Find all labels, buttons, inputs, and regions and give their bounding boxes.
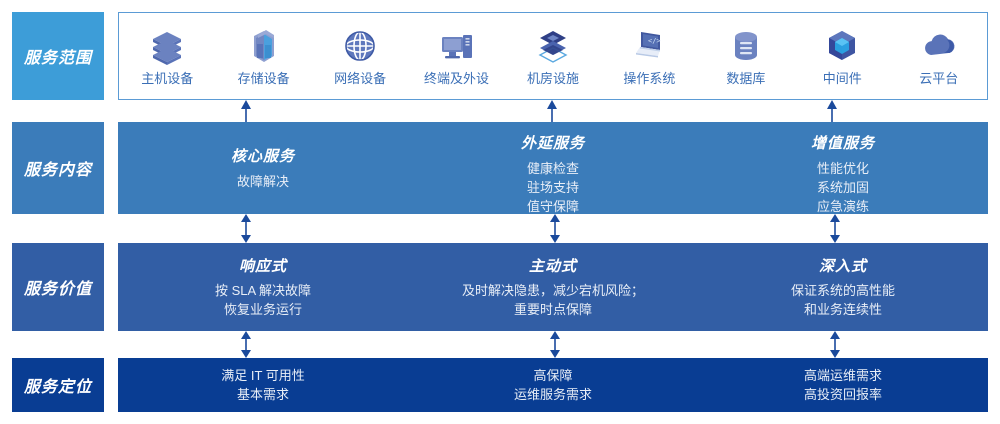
- desktop-terminal-icon: [437, 26, 477, 66]
- scope-item-database[interactable]: 数据库: [698, 26, 794, 87]
- content-column-line: 故障解决: [237, 172, 289, 191]
- server-stack-icon: [147, 26, 187, 66]
- connector-arrow-up-2: [545, 100, 559, 122]
- position-column-premium: 高端运维需求 高投资回报率: [698, 358, 988, 412]
- position-panel: 满足 IT 可用性 基本需求 高保障 运维服务需求 高端运维需求 高投资回报率: [118, 358, 988, 412]
- content-column-line: 健康检查: [527, 159, 579, 178]
- value-column-indepth: 深入式 保证系统的高性能 和业务连续性: [698, 243, 988, 331]
- scope-item-label: 终端及外设: [424, 68, 489, 87]
- scope-item-label: 网络设备: [334, 68, 386, 87]
- connector-arrow-up-1: [239, 100, 253, 122]
- content-column-title: 增值服务: [811, 132, 875, 153]
- content-column-line: 应急演练: [817, 197, 869, 216]
- connector-arrow-both-1: [239, 214, 253, 243]
- value-panel: 响应式 按 SLA 解决故障 恢复业务运行 主动式 及时解决隐患，减少宕机风险；…: [118, 243, 988, 331]
- position-column-basic: 满足 IT 可用性 基本需求: [118, 358, 408, 412]
- scope-item-label: 主机设备: [141, 68, 193, 87]
- scope-item-storage[interactable]: 存储设备: [215, 26, 311, 87]
- scope-item-facility[interactable]: 机房设施: [505, 26, 601, 87]
- value-column-line: 和业务连续性: [804, 300, 882, 319]
- scope-item-terminal[interactable]: 终端及外设: [408, 26, 504, 87]
- content-column-valueadd: 增值服务 性能优化 系统加固 应急演练: [698, 122, 988, 214]
- scope-item-label: 操作系统: [623, 68, 675, 87]
- service-framework-diagram: 服务范围 服务内容 服务价值 服务定位: [0, 0, 1000, 424]
- row-label-content-text: 服务内容: [24, 156, 92, 180]
- connector-arrow-both-6: [828, 331, 842, 358]
- value-column-line: 及时解决隐患，减少宕机风险；: [462, 281, 644, 300]
- position-column-line: 运维服务需求: [514, 385, 592, 404]
- content-column-title: 外延服务: [521, 132, 585, 153]
- value-column-line: 恢复业务运行: [224, 300, 302, 319]
- scope-item-label: 云平台: [919, 68, 958, 87]
- content-column-line: 系统加固: [817, 178, 869, 197]
- content-column-core: 核心服务 故障解决: [118, 122, 408, 214]
- connector-arrow-up-3: [825, 100, 839, 122]
- value-column-title: 深入式: [819, 255, 867, 276]
- scope-panel: 主机设备 存储设备: [118, 12, 988, 100]
- connector-arrow-both-5: [548, 331, 562, 358]
- content-column-line: 驻场支持: [527, 178, 579, 197]
- operating-system-icon: </>: [629, 26, 669, 66]
- scope-item-cloud[interactable]: 云平台: [891, 26, 987, 87]
- value-column-line: 保证系统的高性能: [791, 281, 895, 300]
- scope-item-os[interactable]: </> 操作系统: [601, 26, 697, 87]
- position-column-line: 高端运维需求: [804, 366, 882, 385]
- scope-item-label: 机房设施: [527, 68, 579, 87]
- position-column-line: 高保障: [533, 366, 572, 385]
- scope-item-host[interactable]: 主机设备: [119, 26, 215, 87]
- connector-arrow-both-2: [548, 214, 562, 243]
- content-column-line: 值守保障: [527, 197, 579, 216]
- position-column-line: 基本需求: [237, 385, 289, 404]
- network-globe-icon: [340, 26, 380, 66]
- content-column-title: 核心服务: [231, 145, 295, 166]
- storage-array-icon: [244, 26, 284, 66]
- value-column-proactive: 主动式 及时解决隐患，减少宕机风险； 重要时点保障: [408, 243, 698, 331]
- value-column-line: 重要时点保障: [514, 300, 592, 319]
- row-label-content: 服务内容: [12, 122, 104, 214]
- connector-arrow-both-3: [828, 214, 842, 243]
- row-label-value-text: 服务价值: [24, 275, 92, 299]
- scope-item-middleware[interactable]: 中间件: [794, 26, 890, 87]
- row-label-position-text: 服务定位: [24, 373, 92, 397]
- position-column-assured: 高保障 运维服务需求: [408, 358, 698, 412]
- middleware-cube-icon: [822, 26, 862, 66]
- content-panel: 核心服务 故障解决 外延服务 健康检查 驻场支持 值守保障 增值服务 性能优化 …: [118, 122, 988, 214]
- scope-item-network[interactable]: 网络设备: [312, 26, 408, 87]
- value-column-title: 响应式: [239, 255, 287, 276]
- scope-item-label: 数据库: [726, 68, 765, 87]
- row-label-position: 服务定位: [12, 358, 104, 412]
- position-column-line: 高投资回报率: [804, 385, 882, 404]
- content-column-line: 性能优化: [817, 159, 869, 178]
- data-center-icon: [533, 26, 573, 66]
- value-column-line: 按 SLA 解决故障: [215, 281, 311, 300]
- scope-item-label: 存储设备: [238, 68, 290, 87]
- svg-text:</>: </>: [648, 37, 661, 45]
- scope-item-label: 中间件: [823, 68, 862, 87]
- value-column-title: 主动式: [529, 255, 577, 276]
- row-label-scope: 服务范围: [12, 12, 104, 100]
- content-column-extended: 外延服务 健康检查 驻场支持 值守保障: [408, 122, 698, 214]
- row-label-scope-text: 服务范围: [24, 44, 92, 68]
- position-column-line: 满足 IT 可用性: [221, 366, 305, 385]
- value-column-reactive: 响应式 按 SLA 解决故障 恢复业务运行: [118, 243, 408, 331]
- cloud-platform-icon: [919, 26, 959, 66]
- connector-arrow-both-4: [239, 331, 253, 358]
- row-label-value: 服务价值: [12, 243, 104, 331]
- database-icon: [726, 26, 766, 66]
